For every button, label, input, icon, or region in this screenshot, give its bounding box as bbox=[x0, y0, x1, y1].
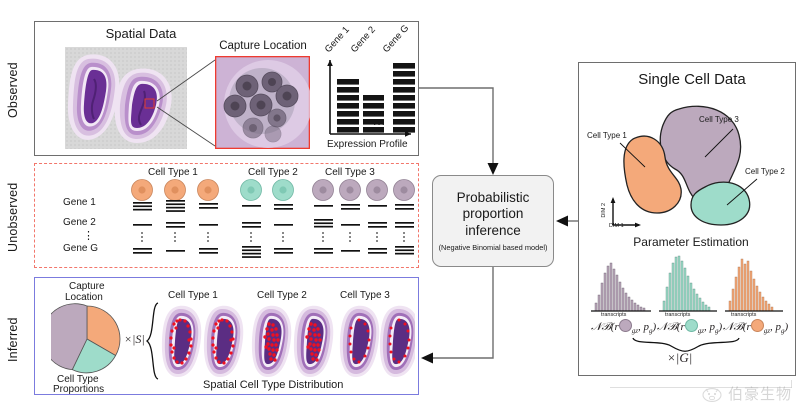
hist-axis-label-2: transcripts bbox=[665, 312, 690, 318]
expression-profile-chart bbox=[321, 34, 417, 152]
watermark: 伯豪生物 bbox=[701, 383, 792, 404]
nb-formula-3: 𝒩ℬ(rgz, pg) bbox=[723, 319, 788, 335]
inference-line-1: Probabilistic bbox=[457, 190, 530, 206]
inferred-cell-type-3-label: Cell Type 3 bbox=[340, 290, 390, 301]
watermark-text: 伯豪生物 bbox=[728, 383, 792, 404]
inferred-cell-type-2-label: Cell Type 2 bbox=[257, 290, 307, 301]
nb-suffix-3: ) bbox=[784, 321, 788, 333]
probabilistic-inference-box: Probabilistic proportion inference (Nega… bbox=[432, 175, 554, 267]
panel-inferred: Capture Location Cell Type Proportions ×… bbox=[34, 277, 419, 395]
nb-prefix-3: 𝒩ℬ(r bbox=[723, 321, 751, 333]
panel-single-cell: Single Cell Data Cell Type 1 Cell Type 3… bbox=[578, 62, 796, 376]
figure-root: Observed Unobserved Inferred Spatial Dat… bbox=[0, 0, 800, 410]
spatial-cell-type-distribution-label: Spatial Cell Type Distribution bbox=[203, 379, 343, 391]
single-cell-multiplier-g: ×|G| bbox=[667, 350, 692, 366]
nb-prefix-1: 𝒩ℬ(r bbox=[591, 321, 619, 333]
hist-axis-label-3: transcripts bbox=[731, 312, 756, 318]
nb-color-chip-cell-type-2 bbox=[685, 319, 698, 332]
hist-axis-label-1: transcripts bbox=[601, 312, 626, 318]
row-label-inferred: Inferred bbox=[6, 285, 28, 395]
nb-histograms bbox=[589, 253, 789, 319]
panel-observed: Spatial Data bbox=[34, 21, 419, 156]
single-cell-type-2-label: Cell Type 2 bbox=[745, 167, 785, 176]
pie-title-line2: Location bbox=[65, 292, 103, 303]
unobserved-cell-matrix bbox=[35, 164, 420, 269]
pie-title-line1: Capture bbox=[69, 281, 105, 292]
inference-line-3: inference bbox=[465, 223, 521, 239]
cell-type-proportions-pie bbox=[51, 303, 123, 375]
nb-prefix-2: 𝒩ℬ(r bbox=[657, 321, 685, 333]
umap-axis-x-label: DIM 1 bbox=[609, 223, 624, 229]
inference-subtitle: (Negative Binomial based model) bbox=[439, 243, 548, 252]
nb-suffix-1: ) bbox=[652, 321, 656, 333]
pig-logo-icon bbox=[701, 385, 725, 403]
spatial-cell-type-distribution bbox=[159, 302, 415, 378]
umap-axis-y-label: DIM 2 bbox=[601, 203, 607, 218]
nb-color-chip-cell-type-1 bbox=[751, 319, 764, 332]
nb-formula-2: 𝒩ℬ(rgz, pg) bbox=[657, 319, 722, 335]
nb-mid-3: , p bbox=[770, 321, 781, 333]
inferred-cell-type-1-label: Cell Type 1 bbox=[168, 290, 218, 301]
nb-suffix-2: ) bbox=[718, 321, 722, 333]
expression-profile-axis-label: Expression Profile bbox=[327, 139, 408, 150]
nb-color-chip-cell-type-3 bbox=[619, 319, 632, 332]
inference-line-2: proportion bbox=[463, 206, 524, 222]
umap-scatter-blobs bbox=[587, 91, 789, 231]
pie-caption-line2: Proportions bbox=[53, 384, 104, 395]
nb-mid-2: , p bbox=[704, 321, 715, 333]
expression-bar-ellipsis: ... bbox=[373, 114, 386, 128]
nb-formula-1: 𝒩ℬ(rgz, pg) bbox=[591, 319, 656, 335]
single-cell-data-title: Single Cell Data bbox=[627, 71, 757, 88]
inferred-multiplier-s: ×|S| bbox=[124, 332, 145, 347]
panel-unobserved: Cell Type 1 Cell Type 2 Cell Type 3 Gene… bbox=[34, 163, 419, 268]
parameter-estimation-title: Parameter Estimation bbox=[621, 235, 761, 249]
single-cell-type-3-label: Cell Type 3 bbox=[699, 115, 739, 124]
row-label-unobserved: Unobserved bbox=[6, 165, 28, 270]
single-cell-type-1-label: Cell Type 1 bbox=[587, 131, 627, 140]
nb-mid-1: , p bbox=[638, 321, 649, 333]
row-label-observed: Observed bbox=[6, 20, 28, 160]
